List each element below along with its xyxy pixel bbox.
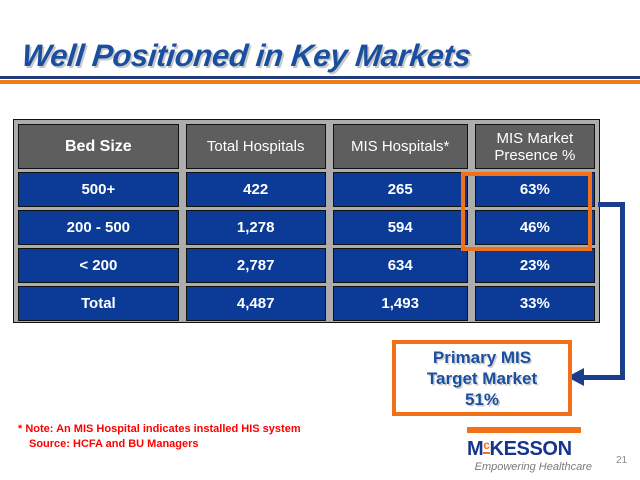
- footnote-line1: * Note: An MIS Hospital indicates instal…: [18, 422, 301, 437]
- logo-wordmark: McKESSON: [467, 435, 592, 460]
- cell-total-hospitals: 422: [186, 172, 326, 207]
- cell-total-hospitals: 2,787: [186, 248, 326, 283]
- connector-segment-right: [620, 202, 625, 380]
- table-header-mis-hospitals: MIS Hospitals*: [333, 124, 468, 169]
- cell-mis-hospitals: 265: [333, 172, 468, 207]
- title-rule-blue: [0, 76, 640, 79]
- cell-bed-size: < 200: [18, 248, 179, 283]
- connector-segment-bottom: [583, 375, 625, 380]
- cell-bed-size: 500+: [18, 172, 179, 207]
- callout-primary-mis-target-market: Primary MIS Target Market 51%: [392, 340, 572, 416]
- footnote-line2: Source: HCFA and BU Managers: [18, 437, 301, 452]
- logo-tagline: Empowering Healthcare: [467, 461, 592, 473]
- cell-mis-market-presence: 63%: [475, 172, 595, 207]
- cell-bed-size: Total: [18, 286, 179, 321]
- page-number: 21: [616, 455, 627, 466]
- table-row: 500+ 422 265 63%: [18, 172, 595, 207]
- cell-mis-hospitals: 594: [333, 210, 468, 245]
- cell-bed-size: 200 - 500: [18, 210, 179, 245]
- cell-total-hospitals: 1,278: [186, 210, 326, 245]
- callout-line2: Target Market: [427, 368, 537, 389]
- logo-orange-bar-icon: [467, 427, 581, 433]
- table-header-row: Bed Size Total Hospitals MIS Hospitals* …: [18, 124, 595, 169]
- cell-mis-market-presence: 23%: [475, 248, 595, 283]
- footnote: * Note: An MIS Hospital indicates instal…: [18, 422, 301, 452]
- cell-mis-market-presence: 46%: [475, 210, 595, 245]
- callout-line1: Primary MIS: [433, 347, 531, 368]
- table-row: < 200 2,787 634 23%: [18, 248, 595, 283]
- slide-canvas: Well Positioned in Key Markets Bed Size …: [0, 0, 640, 480]
- title-rule-orange: [0, 80, 640, 84]
- cell-mis-hospitals: 634: [333, 248, 468, 283]
- logo-wordmark-rest: KESSON: [490, 438, 572, 460]
- cell-mis-hospitals: 1,493: [333, 286, 468, 321]
- cell-mis-market-presence: 33%: [475, 286, 595, 321]
- cell-total-hospitals: 4,487: [186, 286, 326, 321]
- market-table: Bed Size Total Hospitals MIS Hospitals* …: [13, 119, 600, 323]
- mckesson-logo: McKESSON Empowering Healthcare: [467, 427, 592, 473]
- table-row: Total 4,487 1,493 33%: [18, 286, 595, 321]
- table-header-mis-market-presence-line2: Presence %: [494, 147, 575, 164]
- table-header-total-hospitals: Total Hospitals: [186, 124, 326, 169]
- table-header-mis-market-presence-line1: MIS Market: [494, 130, 575, 147]
- callout-line3: 51%: [465, 389, 499, 410]
- table-header-mis-market-presence: MIS Market Presence %: [475, 124, 595, 169]
- page-title: Well Positioned in Key Markets: [20, 38, 472, 74]
- table-row: 200 - 500 1,278 594 46%: [18, 210, 595, 245]
- logo-wordmark-prefix: M: [467, 438, 483, 460]
- table-header-bed-size: Bed Size: [18, 124, 179, 169]
